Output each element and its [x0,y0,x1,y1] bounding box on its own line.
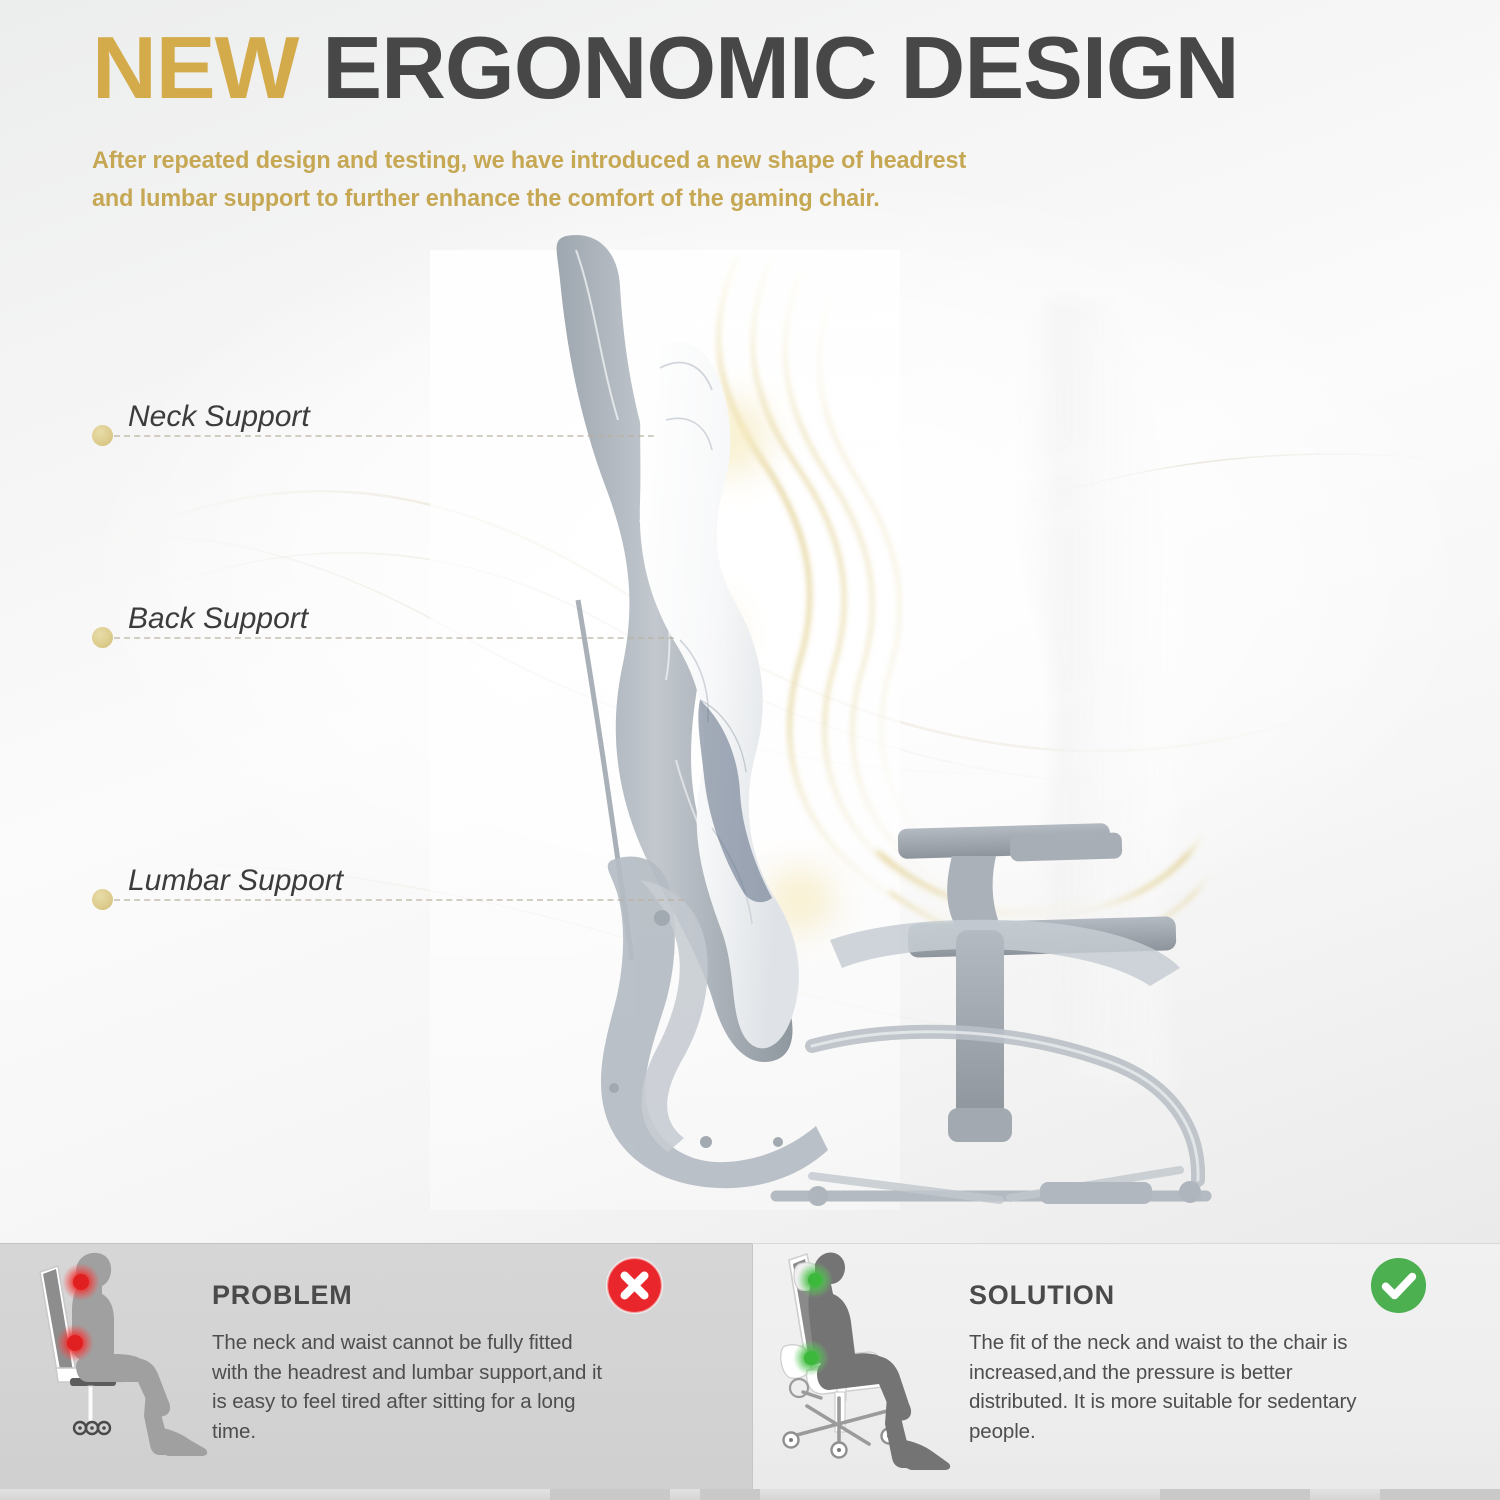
problem-heading: PROBLEM [212,1280,612,1311]
title-rest: ERGONOMIC DESIGN [298,18,1238,117]
solution-illustration [763,1248,973,1500]
solution-body: The fit of the neck and waist to the cha… [969,1328,1389,1446]
cross-circle-icon [605,1256,664,1315]
solution-heading: SOLUTION [969,1280,1389,1311]
page-title: NEW ERGONOMIC DESIGN [92,24,1500,112]
callout-dot-icon [92,889,113,910]
solution-panel: SOLUTION The fit of the neck and waist t… [752,1243,1500,1500]
problem-illustration [18,1250,218,1498]
check-circle-icon [1369,1256,1428,1315]
callout-leader-line [114,435,654,437]
callout-label: Back Support [128,602,308,636]
problem-body: The neck and waist cannot be fully fitte… [212,1328,612,1446]
page-title-block: NEW ERGONOMIC DESIGN After repeated desi… [92,24,1472,218]
solution-text-block: SOLUTION The fit of the neck and waist t… [969,1280,1389,1446]
problem-text-block: PROBLEM The neck and waist cannot be ful… [212,1280,612,1446]
callout-label: Lumbar Support [128,864,343,898]
callout-dot-icon [92,425,113,446]
callout-dot-icon [92,627,113,648]
callout-leader-line [114,899,684,901]
problem-panel: PROBLEM The neck and waist cannot be ful… [0,1243,752,1500]
callout-label: Neck Support [128,400,310,434]
hero-section: NEW ERGONOMIC DESIGN After repeated desi… [0,0,1500,1243]
subtitle-line-1: After repeated design and testing, we ha… [92,142,1410,180]
subtitle-line-2: and lumbar support to further enhance th… [92,180,1410,218]
comparison-section: PROBLEM The neck and waist cannot be ful… [0,1243,1500,1500]
footer-strip [0,1489,1500,1500]
title-accent-word: NEW [92,18,298,117]
callout-leader-line [114,637,674,639]
